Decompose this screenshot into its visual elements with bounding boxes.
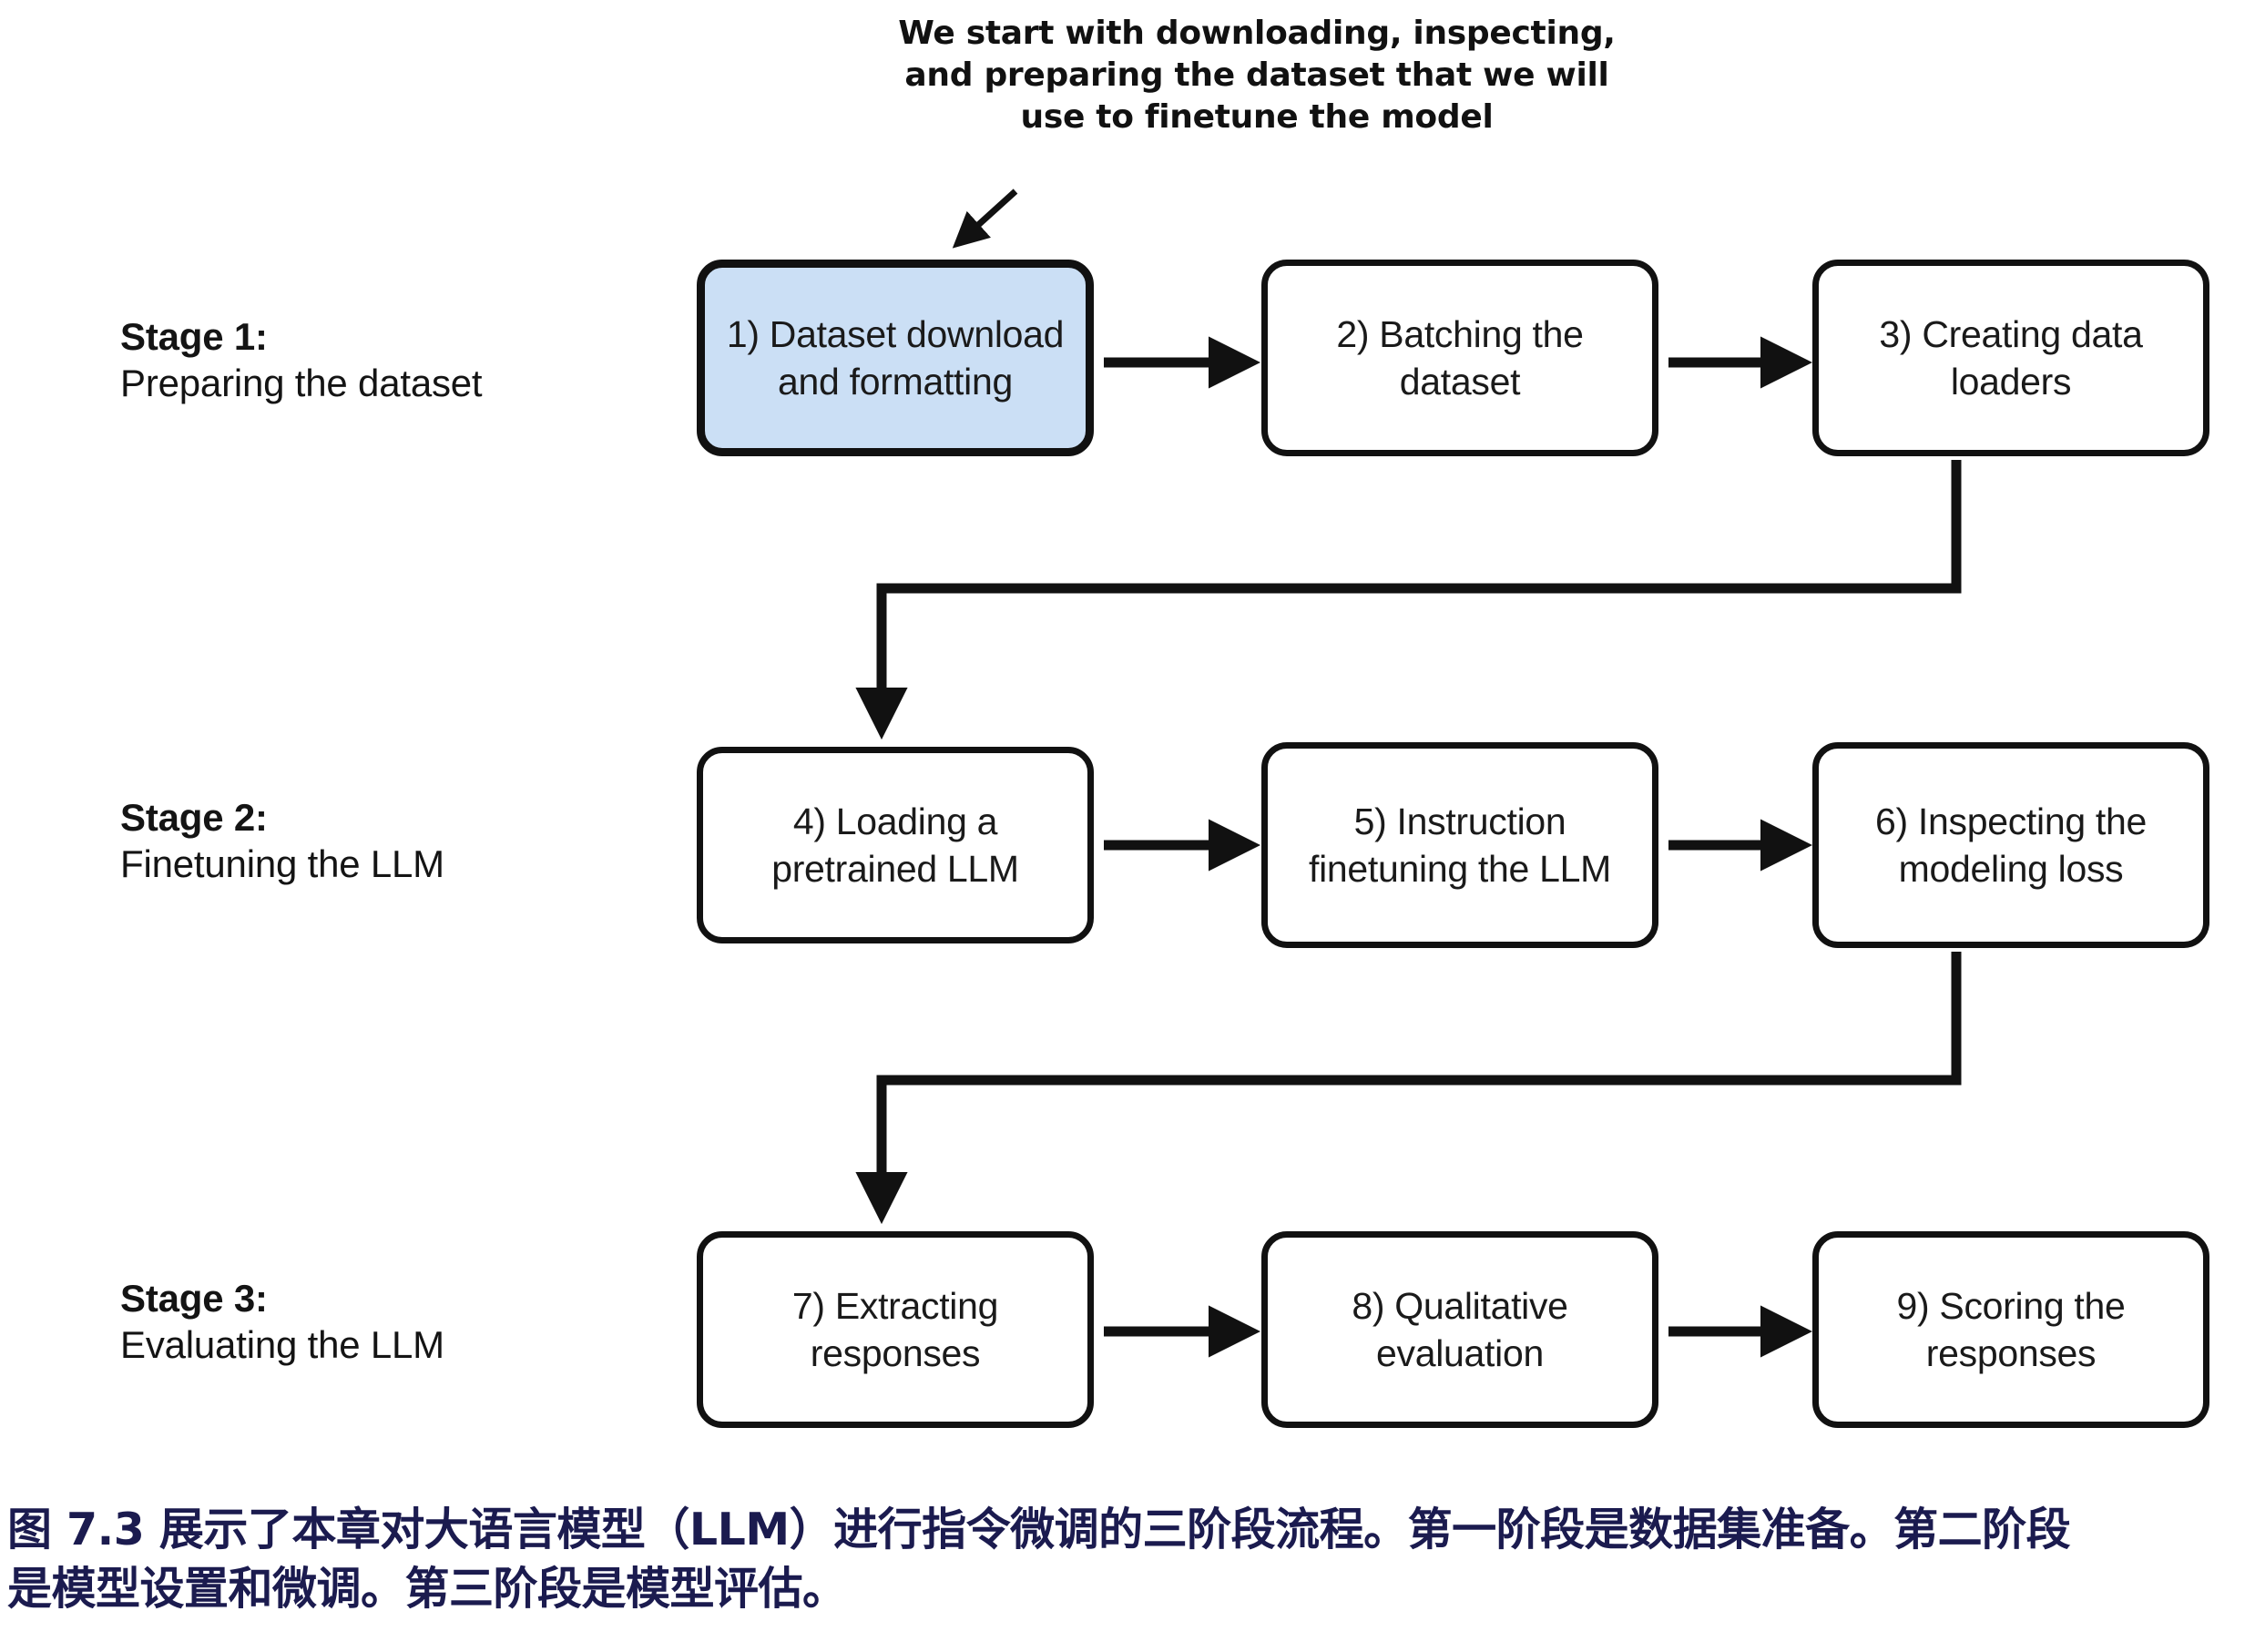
stage-3-subtitle: Evaluating the LLM <box>120 1321 685 1368</box>
stage-3-title: Stage 3: <box>120 1275 685 1321</box>
figure-caption-line-2: 是模型设置和微调。第三阶段是模型评估。 <box>7 1560 2248 1619</box>
callout-line-3: use to finetune the model <box>874 97 1639 138</box>
flow-step-8-qualitative-evaluation[interactable]: 8) Qualitative evaluation <box>1261 1231 1658 1428</box>
flow-step-2-batching-the-dataset[interactable]: 2) Batching the dataset <box>1261 260 1658 456</box>
stage-2-subtitle: Finetuning the LLM <box>120 841 685 887</box>
stage-label-2: Stage 2: Finetuning the LLM <box>120 794 685 887</box>
flow-step-6-inspecting-the-modeling-loss[interactable]: 6) Inspecting the modeling loss <box>1812 742 2209 948</box>
stage-label-1: Stage 1: Preparing the dataset <box>120 313 685 406</box>
callout-annotation: We start with downloading, inspecting, a… <box>874 13 1639 138</box>
stage-1-subtitle: Preparing the dataset <box>120 360 685 406</box>
flow-step-2-label: 2) Batching the dataset <box>1281 311 1639 405</box>
flow-step-8-label: 8) Qualitative evaluation <box>1281 1282 1639 1377</box>
flow-step-4-label: 4) Loading a pretrained LLM <box>716 798 1075 892</box>
callout-arrow <box>958 191 1015 243</box>
flow-step-5-label: 5) Instruction finetuning the LLM <box>1281 798 1639 892</box>
flow-step-7-label: 7) Extracting responses <box>716 1282 1075 1377</box>
stage-label-3: Stage 3: Evaluating the LLM <box>120 1275 685 1368</box>
flow-step-9-scoring-the-responses[interactable]: 9) Scoring the responses <box>1812 1231 2209 1428</box>
flow-step-1-dataset-download-and-formatting[interactable]: 1) Dataset download and formatting <box>697 260 1094 456</box>
flow-step-9-label: 9) Scoring the responses <box>1832 1282 2190 1377</box>
flow-step-4-loading-a-pretrained-llm[interactable]: 4) Loading a pretrained LLM <box>697 747 1094 943</box>
stage-1-title: Stage 1: <box>120 313 685 360</box>
flow-step-3-label: 3) Creating data loaders <box>1832 311 2190 405</box>
flow-step-1-label: 1) Dataset download and formatting <box>718 311 1073 405</box>
figure-caption-line-1: 图 7.3 展示了本章对大语言模型（LLM）进行指令微调的三阶段流程。第一阶段是… <box>7 1501 2248 1560</box>
flow-step-5-instruction-finetuning-the-llm[interactable]: 5) Instruction finetuning the LLM <box>1261 742 1658 948</box>
flow-step-6-label: 6) Inspecting the modeling loss <box>1832 798 2190 892</box>
arrow-box3-to-box4 <box>882 460 1956 729</box>
flow-step-3-creating-data-loaders[interactable]: 3) Creating data loaders <box>1812 260 2209 456</box>
callout-line-2: and preparing the dataset that we will <box>874 55 1639 97</box>
arrow-box6-to-box7 <box>882 952 1956 1213</box>
stage-2-title: Stage 2: <box>120 794 685 841</box>
flow-step-7-extracting-responses[interactable]: 7) Extracting responses <box>697 1231 1094 1428</box>
figure-caption: 图 7.3 展示了本章对大语言模型（LLM）进行指令微调的三阶段流程。第一阶段是… <box>7 1501 2248 1618</box>
callout-line-1: We start with downloading, inspecting, <box>874 13 1639 55</box>
